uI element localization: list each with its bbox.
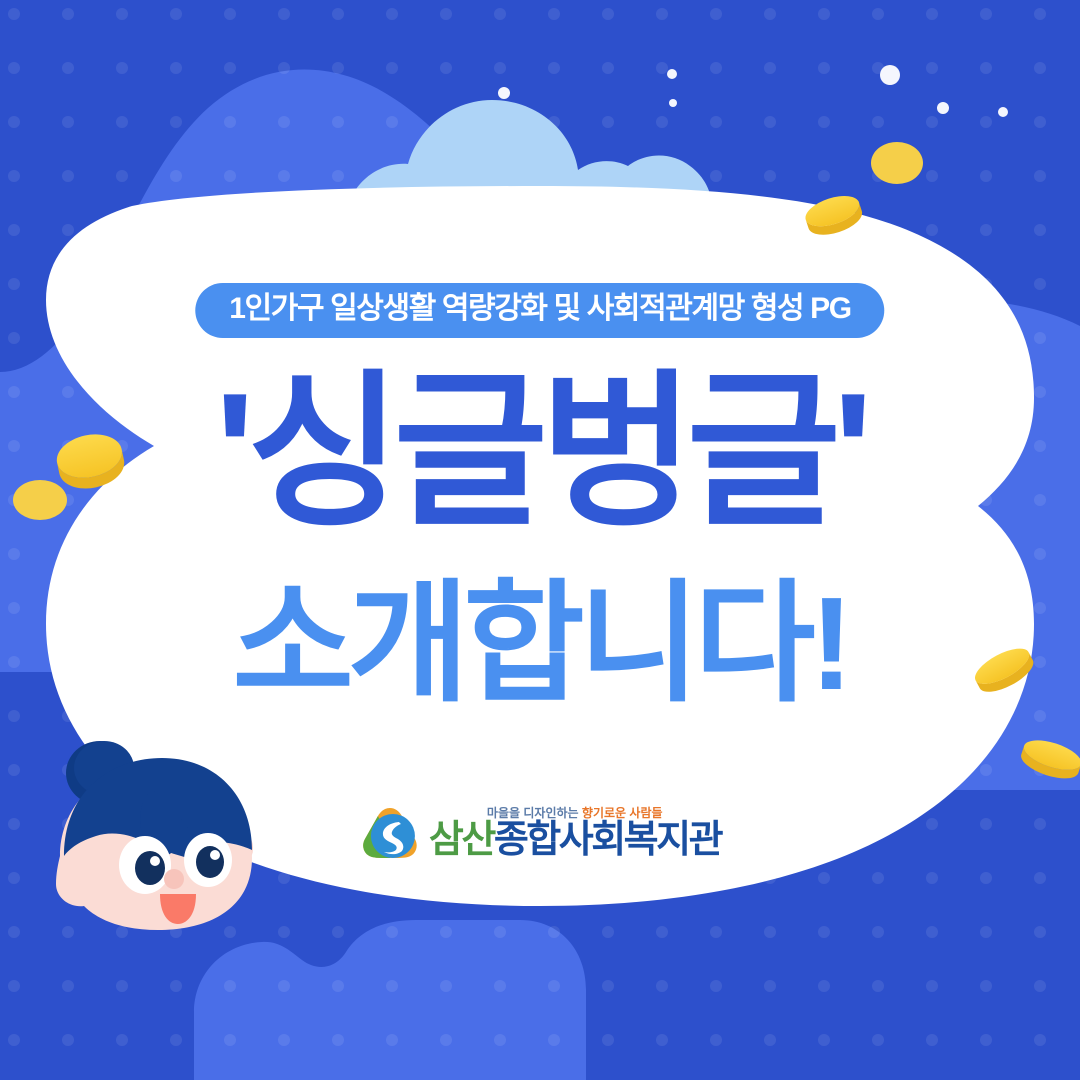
sam-san-swirl-logo-icon <box>359 805 421 861</box>
logo-tagline: 마을을 디자인하는 향기로운 사람들 <box>487 807 721 819</box>
coin-top-right-flat <box>871 142 923 184</box>
program-badge[interactable]: 1인가구 일상생활 역량강화 및 사회적관계망 형성 PG <box>195 283 884 338</box>
logo-tagline-part-2: 향기로운 사람들 <box>582 806 663 820</box>
logo-name-part-1: 삼산 <box>429 819 494 861</box>
poster-canvas: 1인가구 일상생활 역량강화 및 사회적관계망 형성 PG '싱글벙글' 소개합… <box>0 0 1080 1080</box>
logo-name-part-2: 종합사회복지관 <box>494 819 721 861</box>
organization-logo[interactable]: 마을을 디자인하는 향기로운 사람들 삼산종합사회복지관 <box>359 805 721 861</box>
background-art <box>0 0 1080 1080</box>
coin-left-flat <box>13 480 67 520</box>
logo-name: 삼산종합사회복지관 <box>429 821 721 859</box>
logo-tagline-part-1: 마을을 디자인하는 <box>487 806 582 820</box>
